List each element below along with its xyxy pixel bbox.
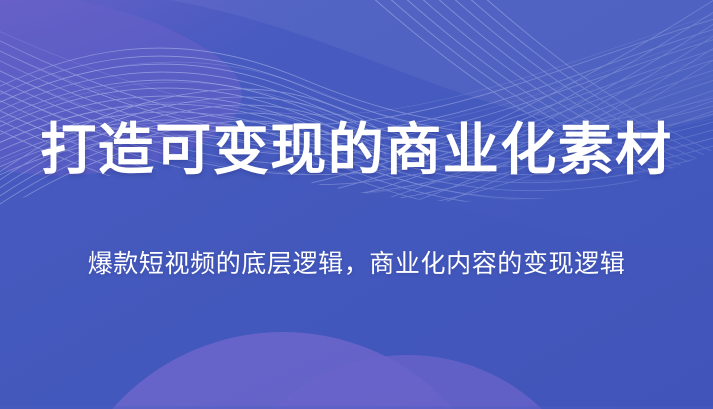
banner-content: 打造可变现的商业化素材 爆款短视频的底层逻辑，商业化内容的变现逻辑	[0, 0, 713, 409]
course-cover-banner: 打造可变现的商业化素材 爆款短视频的底层逻辑，商业化内容的变现逻辑	[0, 0, 713, 409]
page-subtitle: 爆款短视频的底层逻辑，商业化内容的变现逻辑	[0, 247, 713, 281]
page-title: 打造可变现的商业化素材	[0, 118, 713, 182]
